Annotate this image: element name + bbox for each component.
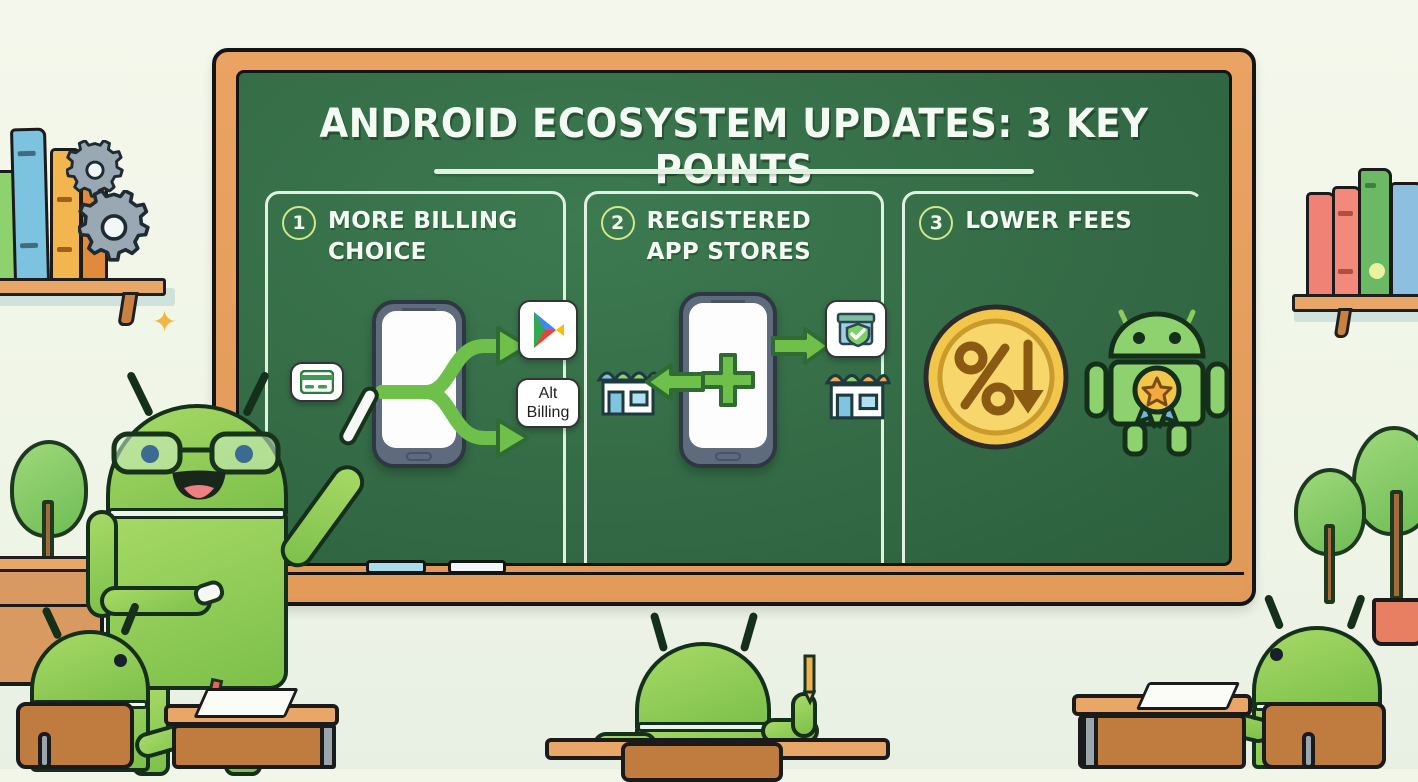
student-right	[1062, 590, 1418, 769]
google-play-logo	[518, 300, 578, 360]
teacher-arm-right	[274, 459, 371, 574]
panel-lower-fees[interactable]: 3 LOWER FEES	[902, 191, 1203, 566]
student-right-eye	[1270, 648, 1283, 661]
teacher-antenna-right	[242, 371, 270, 418]
verified-store-badge	[825, 300, 887, 358]
teacher-mouth	[170, 470, 228, 500]
panel-2-title: REGISTERED APP STORES	[647, 206, 868, 268]
student-left	[12, 596, 342, 769]
panel-1-title: MORE BILLING CHOICE	[328, 206, 549, 268]
pencil-icon-center	[793, 654, 827, 706]
student-right-antenna-b	[1346, 594, 1366, 631]
alt-billing-tile: Alt Billing	[516, 378, 580, 428]
panel-3-number: 3	[919, 206, 953, 240]
title-underline	[434, 169, 1034, 174]
student-left-antenna-b	[120, 602, 140, 637]
student-left-head	[30, 630, 150, 706]
sparkle-icon: ✦	[152, 308, 177, 338]
teacher-antenna-left	[126, 371, 154, 418]
panel-2-art	[587, 286, 882, 566]
book-green-right	[1358, 168, 1392, 298]
panel-1-head: 1 MORE BILLING CHOICE	[268, 194, 563, 268]
left-shelf-plank	[0, 278, 166, 296]
arrow-left-icon	[645, 362, 705, 402]
chair-right	[1262, 702, 1386, 769]
desk-right-front	[1078, 714, 1246, 769]
chair-left	[16, 702, 134, 769]
panel-3-head: 3 LOWER FEES	[905, 194, 1200, 240]
desk-left-front	[172, 724, 334, 769]
chair-center	[621, 742, 783, 782]
alt-billing-label: Alt Billing	[518, 384, 578, 422]
student-right-head	[1252, 626, 1382, 708]
paper-left	[193, 688, 298, 718]
student-right-antenna-a	[1264, 594, 1285, 630]
storefront-icon-right	[823, 360, 891, 420]
classroom-scene: ✦ ANDROID ECOSYSTEM UPDATES: 3 KEY POINT…	[0, 0, 1418, 769]
desk-right-leg	[1082, 714, 1098, 769]
student-center-head	[635, 642, 771, 728]
panel-1-number: 1	[282, 206, 316, 240]
student-center-antenna-a	[650, 612, 669, 653]
gear-icon-large	[78, 190, 150, 262]
phone-home-indicator-2	[715, 452, 741, 461]
panel-2-number: 2	[601, 206, 635, 240]
chair-left-slat	[38, 732, 51, 769]
paper-right	[1136, 682, 1240, 710]
plus-icon	[697, 349, 759, 411]
book-blue	[10, 128, 50, 283]
panel-row: 1 MORE BILLING CHOICE	[265, 191, 1203, 566]
panel-2-head: 2 REGISTERED APP STORES	[587, 194, 882, 268]
android-award-mascot	[1083, 298, 1232, 458]
desk-left-leg	[320, 724, 336, 769]
student-left-antenna-a	[41, 606, 63, 640]
student-center-antenna-b	[740, 612, 759, 653]
panel-3-art	[905, 286, 1200, 566]
panel-registered-app-stores[interactable]: 2 REGISTERED APP STORES	[584, 191, 885, 566]
panel-3-title: LOWER FEES	[965, 206, 1132, 237]
student-center-belt	[637, 722, 769, 732]
chalk-piece-white[interactable]	[448, 560, 506, 574]
student-center	[545, 606, 890, 769]
page-title: ANDROID ECOSYSTEM UPDATES: 3 KEY POINTS	[274, 101, 1195, 193]
discount-coin-icon	[921, 302, 1071, 452]
chalkboard-surface: ANDROID ECOSYSTEM UPDATES: 3 KEY POINTS …	[236, 70, 1232, 566]
chair-right-slat	[1302, 732, 1315, 769]
teacher-belt	[108, 508, 286, 519]
student-left-eye	[114, 654, 127, 667]
book-blue-right	[1390, 182, 1418, 298]
right-shelf-plank	[1292, 294, 1418, 312]
pointer-stick	[324, 382, 394, 462]
